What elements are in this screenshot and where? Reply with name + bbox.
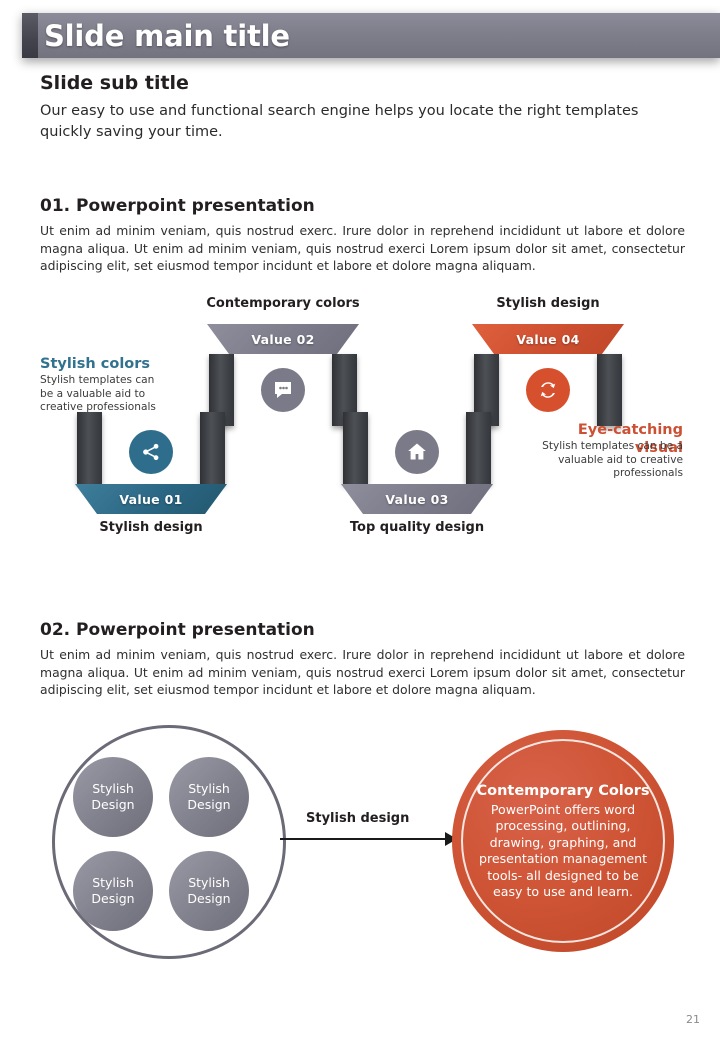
flow-arrow-line [280, 838, 448, 840]
chat-icon [261, 368, 305, 412]
side-note-1-heading: Stylish colors [40, 355, 150, 373]
page-number: 21 [686, 1013, 700, 1026]
arch-caption-1: Stylish design [56, 519, 246, 536]
side-note-1-text: Stylish templates can be a valuable aid … [40, 374, 168, 415]
slide-header: Slide main title [0, 13, 720, 59]
arch-banner-2: Value 02 [207, 324, 359, 354]
target-body: PowerPoint offers word processing, outli… [476, 802, 651, 901]
target-content: Contemporary Colors PowerPoint offers wo… [476, 782, 651, 901]
group-circle-label: Stylish Design [73, 875, 153, 907]
group-circle-label: Stylish Design [73, 781, 153, 813]
arch-leg-right [200, 412, 225, 484]
share-icon [129, 430, 173, 474]
side-note-2-text: Stylish templates can be a valuable aid … [541, 440, 683, 481]
arch-item-1[interactable]: Value 01 [75, 412, 227, 514]
section-02-title: 02. Powerpoint presentation [40, 620, 315, 640]
slide-sub-title: Slide sub title [40, 72, 189, 94]
group-circle-2[interactable]: Stylish Design [169, 757, 249, 837]
arch-caption-3: Top quality design [322, 519, 512, 536]
slide-root: Slide main title Slide sub title Our eas… [0, 0, 720, 1040]
group-ring [52, 725, 286, 959]
arch-banner-3: Value 03 [341, 484, 493, 514]
target-title: Contemporary Colors [476, 782, 651, 800]
group-circle-1[interactable]: Stylish Design [73, 757, 153, 837]
section-01-title: 01. Powerpoint presentation [40, 196, 315, 216]
slide-sub-description: Our easy to use and functional search en… [40, 101, 685, 143]
section-01-body: Ut enim ad minim veniam, quis nostrud ex… [40, 222, 685, 275]
arch-banner-4: Value 04 [472, 324, 624, 354]
group-circle-label: Stylish Design [169, 781, 249, 813]
page-title: Slide main title [44, 19, 290, 53]
header-left-cap [22, 13, 38, 58]
arch-leg-right [597, 354, 622, 426]
arch-caption-2: Contemporary colors [188, 295, 378, 312]
arch-leg-left [77, 412, 102, 484]
arch-leg-left [343, 412, 368, 484]
home-icon [395, 430, 439, 474]
arch-leg-right [466, 412, 491, 484]
arch-item-2[interactable]: Value 02 [207, 324, 359, 426]
arch-item-3[interactable]: Value 03 [341, 412, 493, 514]
group-circle-3[interactable]: Stylish Design [73, 851, 153, 931]
target-circle[interactable]: Contemporary Colors PowerPoint offers wo… [452, 730, 674, 952]
arrow-label: Stylish design [306, 811, 409, 826]
group-circle-4[interactable]: Stylish Design [169, 851, 249, 931]
arch-item-4[interactable]: Value 04 [472, 324, 624, 426]
refresh-icon [526, 368, 570, 412]
group-circle-label: Stylish Design [169, 875, 249, 907]
arch-banner-1: Value 01 [75, 484, 227, 514]
arch-caption-4: Stylish design [453, 295, 643, 312]
section-02-body: Ut enim ad minim veniam, quis nostrud ex… [40, 646, 685, 699]
